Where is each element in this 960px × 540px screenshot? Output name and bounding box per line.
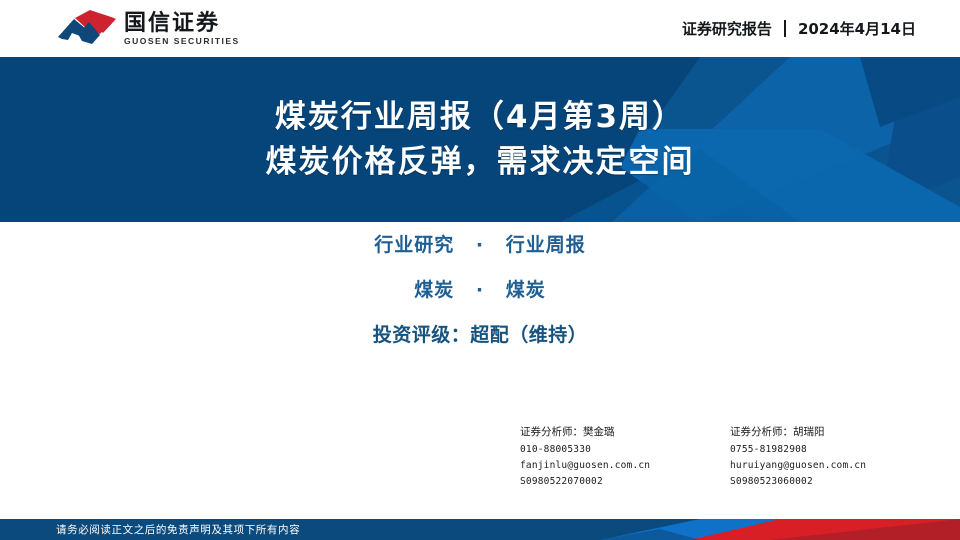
analyst-license-number: S0980522070002	[520, 474, 730, 490]
logo-en-text: GUOSEN SECURITIES	[124, 37, 240, 46]
page-footer: 请务必阅读正文之后的免责声明及其项下所有内容	[0, 519, 960, 540]
report-type-label: 证券研究报告	[682, 18, 772, 39]
footer-disclaimer: 请务必阅读正文之后的免责声明及其项下所有内容	[56, 519, 300, 540]
analyst-license-number: S0980523060002	[730, 474, 940, 490]
hero-title-block: 煤炭行业周报（4月第3周） 煤炭价格反弹，需求决定空间	[0, 57, 960, 222]
subsector-label: 煤炭	[506, 279, 546, 301]
analyst-name: 证券分析师：胡瑞阳	[730, 424, 940, 442]
analyst-email[interactable]: fanjinlu@guosen.com.cn	[520, 458, 730, 474]
analyst-name: 证券分析师：樊金璐	[520, 424, 730, 442]
report-cover-page: 国信证券 GUOSEN SECURITIES 证券研究报告 2024年4月14日…	[0, 0, 960, 540]
analyst-phone: 0755-81982908	[730, 442, 940, 458]
classification-line-sector: 煤炭 · 煤炭	[0, 281, 960, 300]
report-date: 2024年4月14日	[798, 18, 916, 39]
research-category-label: 行业研究	[374, 234, 454, 256]
report-title-line-1: 煤炭行业周报（4月第3周）	[275, 95, 685, 139]
investment-rating-label: 投资评级：超配（维持）	[0, 326, 960, 345]
research-type-label: 行业周报	[506, 234, 586, 256]
analyst-contact-block: 证券分析师：樊金璐 010-88005330 fanjinlu@guosen.c…	[520, 424, 940, 489]
classification-line-research: 行业研究 · 行业周报	[0, 236, 960, 255]
report-classification-block: 行业研究 · 行业周报 煤炭 · 煤炭 投资评级：超配（维持）	[0, 236, 960, 345]
header-meta: 证券研究报告 2024年4月14日	[682, 18, 916, 39]
report-title-line-2: 煤炭价格反弹，需求决定空间	[266, 140, 695, 184]
dot-separator-icon: ·	[476, 236, 484, 255]
logo-cn-text: 国信证券	[124, 12, 240, 35]
brand-logo: 国信证券 GUOSEN SECURITIES	[56, 9, 240, 49]
dot-separator-icon: ·	[476, 281, 484, 300]
header-separator-icon	[784, 20, 786, 37]
hero-banner: 煤炭行业周报（4月第3周） 煤炭价格反弹，需求决定空间	[0, 57, 960, 222]
page-header: 国信证券 GUOSEN SECURITIES 证券研究报告 2024年4月14日	[0, 0, 960, 57]
sector-label: 煤炭	[414, 279, 454, 301]
analyst-email[interactable]: huruiyang@guosen.com.cn	[730, 458, 940, 474]
guosen-logo-mark-icon	[56, 9, 118, 49]
analyst-column-2: 证券分析师：胡瑞阳 0755-81982908 huruiyang@guosen…	[730, 424, 940, 489]
analyst-phone: 010-88005330	[520, 442, 730, 458]
analyst-column-1: 证券分析师：樊金璐 010-88005330 fanjinlu@guosen.c…	[520, 424, 730, 489]
logo-wordmark: 国信证券 GUOSEN SECURITIES	[124, 11, 240, 46]
